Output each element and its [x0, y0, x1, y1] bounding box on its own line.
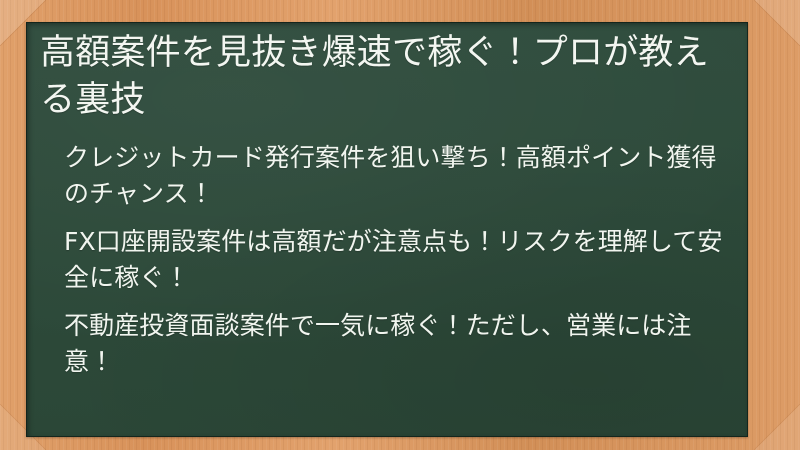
bullet-item-3: 不動産投資面談案件で一気に稼ぐ！ただし、営業には注意！	[64, 308, 724, 379]
bullet-item-2: FX口座開設案件は高額だが注意点も！リスクを理解して安全に稼ぐ！	[64, 224, 724, 295]
chalkboard-slide: 高額案件を見抜き爆速で稼ぐ！プロが教える裏技 クレジットカード発行案件を狙い撃ち…	[0, 0, 800, 450]
chalkboard-surface: 高額案件を見抜き爆速で稼ぐ！プロが教える裏技 クレジットカード発行案件を狙い撃ち…	[26, 22, 748, 437]
slide-title: 高額案件を見抜き爆速で稼ぐ！プロが教える裏技	[34, 30, 734, 123]
board-content: 高額案件を見抜き爆速で稼ぐ！プロが教える裏技 クレジットカード発行案件を狙い撃ち…	[26, 22, 748, 437]
bullet-item-1: クレジットカード発行案件を狙い撃ち！高額ポイント獲得のチャンス！	[64, 140, 724, 211]
bullet-list: クレジットカード発行案件を狙い撃ち！高額ポイント獲得のチャンス！ FX口座開設案…	[34, 140, 734, 379]
